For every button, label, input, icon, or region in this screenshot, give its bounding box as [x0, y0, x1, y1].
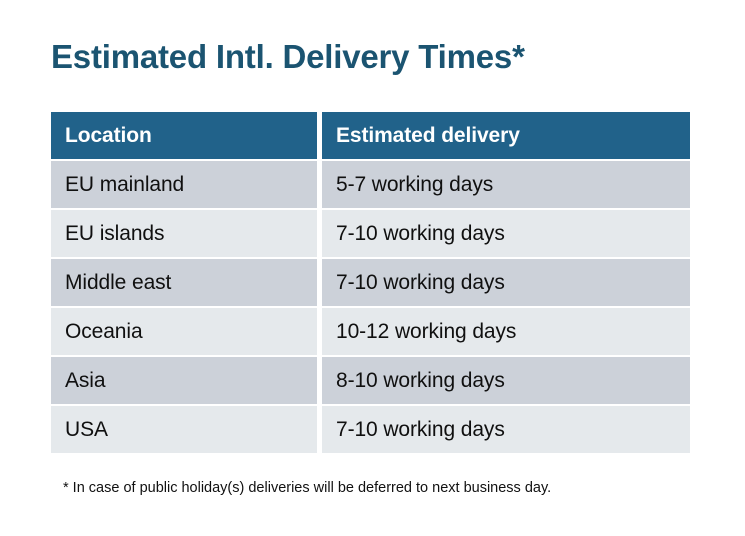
cell-location: USA: [51, 406, 317, 453]
cell-estimated-delivery: 7-10 working days: [322, 210, 690, 257]
cell-location: EU mainland: [51, 161, 317, 208]
cell-location: Middle east: [51, 259, 317, 306]
table-row: EU mainland 5-7 working days: [51, 161, 690, 208]
estimated-delivery-times-table: Location Estimated delivery EU mainland …: [51, 112, 690, 455]
cell-estimated-delivery: 7-10 working days: [322, 406, 690, 453]
table-row: Asia 8-10 working days: [51, 357, 690, 404]
page-title: Estimated Intl. Delivery Times*: [51, 36, 525, 78]
table-row: Middle east 7-10 working days: [51, 259, 690, 306]
table-row: USA 7-10 working days: [51, 406, 690, 453]
cell-estimated-delivery: 5-7 working days: [322, 161, 690, 208]
table-row: EU islands 7-10 working days: [51, 210, 690, 257]
footnote-text: * In case of public holiday(s) deliverie…: [63, 478, 551, 498]
delivery-times-page: Estimated Intl. Delivery Times* Location…: [0, 0, 745, 536]
table-row: Oceania 10-12 working days: [51, 308, 690, 355]
cell-estimated-delivery: 10-12 working days: [322, 308, 690, 355]
column-header-location: Location: [51, 112, 317, 159]
column-header-estimated-delivery: Estimated delivery: [322, 112, 690, 159]
cell-location: Oceania: [51, 308, 317, 355]
cell-estimated-delivery: 8-10 working days: [322, 357, 690, 404]
table-header-row: Location Estimated delivery: [51, 112, 690, 159]
cell-location: Asia: [51, 357, 317, 404]
cell-location: EU islands: [51, 210, 317, 257]
cell-estimated-delivery: 7-10 working days: [322, 259, 690, 306]
